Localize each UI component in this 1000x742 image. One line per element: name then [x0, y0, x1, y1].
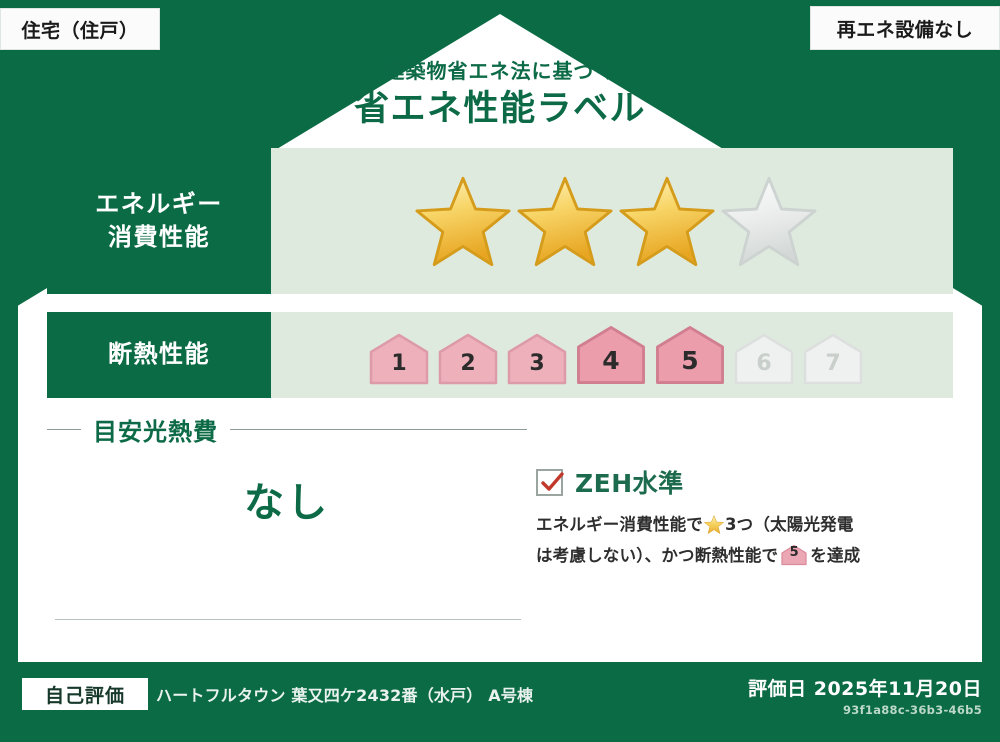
zeh-title: ZEH水準	[575, 464, 684, 500]
zeh-desc-part3: を達成	[810, 546, 860, 565]
energy-performance-row: エネルギー 消費性能	[47, 148, 953, 294]
insulation-badge-inline: 5	[780, 544, 808, 566]
heading-rule-left	[47, 429, 81, 430]
check-icon	[537, 468, 567, 498]
zeh-desc-part2: は考慮しない）、かつ断熱性能で	[536, 546, 778, 565]
self-evaluation-badge: 自己評価	[22, 678, 148, 710]
insulation-badge-inline-number: 5	[780, 544, 808, 566]
renewable-energy-tag: 再エネ設備なし	[810, 6, 1000, 50]
insulation-level-number: 5	[681, 348, 698, 386]
energy-performance-body	[271, 148, 953, 294]
insulation-level-number: 4	[602, 348, 619, 386]
building-type-tag: 住宅（住戸）	[0, 8, 160, 50]
insulation-level-number: 1	[391, 353, 406, 386]
insulation-performance-label: 断熱性能	[47, 312, 271, 398]
insulation-level-number: 3	[529, 353, 544, 386]
property-name: ハートフルタウン 葉又四ケ2432番（水戸） A号棟	[156, 682, 533, 706]
evaluation-id: 93f1a88c-36b3-46b5	[748, 703, 982, 717]
evaluation-date: 評価日 2025年11月20日	[748, 674, 982, 701]
insulation-level-number: 7	[825, 353, 840, 386]
energy-performance-label: エネルギー 消費性能	[47, 148, 271, 294]
page-subtitle: 建築物省エネ法に基づく	[0, 58, 1000, 85]
star-rating	[415, 175, 817, 267]
insulation-label-text: 断熱性能	[108, 338, 210, 371]
footer: 自己評価 ハートフルタウン 葉又四ケ2432番（水戸） A号棟 評価日 2025…	[0, 664, 1000, 742]
evaluation-info: 評価日 2025年11月20日 93f1a88c-36b3-46b5	[748, 674, 982, 717]
title-block: 建築物省エネ法に基づく 省エネ性能ラベル	[0, 58, 1000, 132]
insulation-level-scale: 1234567	[368, 324, 864, 386]
insulation-level-badge: 2	[437, 332, 499, 386]
utility-cost-value: なし	[47, 470, 527, 528]
insulation-performance-body: 1234567	[271, 312, 953, 398]
star-icon-filled	[517, 175, 613, 267]
utility-cost-heading: 目安光熱費	[47, 412, 527, 447]
utility-cost-title: 目安光熱費	[93, 412, 218, 447]
zeh-desc-stars: 3つ（太陽光発電	[725, 515, 854, 534]
star-icon-filled	[415, 175, 511, 267]
zeh-description: エネルギー消費性能で3つ（太陽光発電 は考慮しない）、かつ断熱性能で5を達成	[536, 511, 956, 569]
insulation-level-badge: 1	[368, 332, 430, 386]
zeh-heading: ZEH水準	[536, 464, 956, 500]
energy-label-line1: エネルギー	[95, 188, 223, 221]
zeh-block: ZEH水準 エネルギー消費性能で3つ（太陽光発電 は考慮しない）、かつ断熱性能で…	[536, 464, 956, 569]
star-icon-filled	[619, 175, 715, 267]
page-title: 省エネ性能ラベル	[0, 88, 1000, 132]
insulation-level-number: 2	[460, 353, 475, 386]
zeh-checkbox[interactable]	[536, 469, 563, 496]
insulation-level-badge: 7	[802, 332, 864, 386]
heading-rule-right	[230, 429, 527, 430]
insulation-level-badge: 3	[506, 332, 568, 386]
energy-label-line2: 消費性能	[108, 221, 210, 254]
star-icon-empty	[721, 175, 817, 267]
insulation-level-badge: 4	[575, 324, 647, 386]
insulation-performance-row: 断熱性能 1234567	[47, 312, 953, 398]
insulation-level-badge: 5	[654, 324, 726, 386]
star-icon	[704, 515, 724, 542]
utility-cost-divider	[55, 619, 521, 620]
insulation-level-badge: 6	[733, 332, 795, 386]
zeh-desc-part1: エネルギー消費性能で	[536, 515, 703, 534]
insulation-level-number: 6	[756, 353, 771, 386]
